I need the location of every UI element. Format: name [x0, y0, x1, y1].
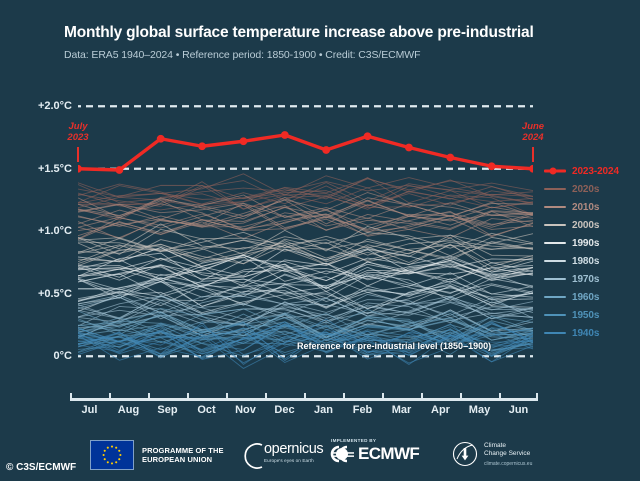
copernicus-c-icon [243, 441, 263, 471]
annotation-july-2023: July 2023 [48, 121, 108, 143]
x-axis-tick [148, 393, 150, 398]
x-axis-label-Jul: Jul [82, 404, 98, 416]
y-axis-label-+1.0°C: +1.0°C [38, 225, 72, 237]
legend-marker-icon [550, 168, 557, 175]
legend-item-2010s[interactable]: 2010s [544, 198, 638, 216]
legend-swatch-1990s [544, 236, 566, 250]
x-axis-label-Mar: Mar [392, 404, 412, 416]
series-line-2023-2024 [78, 135, 533, 170]
decade-line-2000s [78, 224, 533, 249]
eu-stars-icon [91, 441, 133, 469]
copernicus-wordmark: opernicus [264, 441, 323, 457]
x-axis-tick [265, 393, 267, 398]
x-axis-label-Jan: Jan [314, 404, 333, 416]
annotation-june-2024: June 2024 [503, 121, 563, 143]
legend-swatch-1940s [544, 326, 566, 340]
data-point-May [488, 162, 496, 170]
legend-line-icon [544, 206, 566, 208]
x-axis-tick [421, 393, 423, 398]
legend-line-icon [544, 224, 566, 226]
x-axis-tick [304, 393, 306, 398]
eu-star [119, 454, 121, 456]
data-point-Mar [405, 144, 413, 152]
x-axis-tick [70, 393, 72, 398]
c3s-circle-icon [452, 440, 478, 468]
eu-star [107, 461, 109, 463]
annotation-june-2024-line1: June [522, 121, 544, 132]
eu-programme-text: PROGRAMME OF THE EUROPEAN UNION [142, 446, 224, 465]
footer: © C3S/ECMWF PROGRAMME OF THE EUROPEAN UN… [0, 432, 640, 481]
x-axis-label-Aug: Aug [118, 404, 139, 416]
data-point-Apr [446, 154, 454, 162]
legend-label-1990s: 1990s [572, 238, 599, 249]
x-axis-label-Nov: Nov [235, 404, 256, 416]
x-axis-tick [226, 393, 228, 398]
x-axis-tick [382, 393, 384, 398]
c3s-url: climate.copernicus.eu [484, 461, 532, 467]
legend-swatch-1970s [544, 272, 566, 286]
legend-line-icon [544, 314, 566, 316]
eu-star [104, 450, 106, 452]
data-point-Nov [240, 137, 248, 145]
legend-item-1970s[interactable]: 1970s [544, 270, 638, 288]
legend-line-icon [544, 296, 566, 298]
annotation-june-2024-line2: 2024 [522, 132, 543, 143]
x-axis-bar [70, 398, 538, 401]
legend-label-1980s: 1980s [572, 256, 599, 267]
legend-item-1980s[interactable]: 1980s [544, 252, 638, 270]
legend-label-1960s: 1960s [572, 292, 599, 303]
eu-flag-icon [90, 440, 134, 470]
ecmwf-wordmark: ECMWF [358, 444, 419, 464]
eu-star [103, 454, 105, 456]
eu-star [115, 447, 117, 449]
data-point-Dec [281, 131, 289, 139]
y-axis-label-+1.5°C: +1.5°C [38, 163, 72, 175]
legend: 2023-20242020s2010s2000s1990s1980s1970s1… [544, 162, 638, 342]
annotation-june-2024-stem [532, 147, 534, 162]
data-point-Sep [157, 135, 165, 143]
x-axis-label-Jun: Jun [509, 404, 529, 416]
y-axis-label-+2.0°C: +2.0°C [38, 100, 72, 112]
x-axis-label-Oct: Oct [197, 404, 215, 416]
x-axis-tick [536, 393, 538, 398]
legend-item-2000s[interactable]: 2000s [544, 216, 638, 234]
eu-star [111, 446, 113, 448]
data-point-Feb [364, 132, 372, 140]
x-axis-label-Apr: Apr [431, 404, 450, 416]
eu-star [118, 450, 120, 452]
x-axis-tick [187, 393, 189, 398]
c3s-line2: Change Service [484, 450, 532, 458]
eu-star [115, 461, 117, 463]
x-axis-tick [460, 393, 462, 398]
legend-swatch-2020s [544, 182, 566, 196]
legend-line-icon [544, 278, 566, 280]
legend-line-icon [544, 242, 566, 244]
legend-line-icon [544, 332, 566, 334]
eu-star [107, 447, 109, 449]
copyright-label: © C3S/ECMWF [6, 462, 76, 473]
chart-subtitle: Data: ERA5 1940–2024 • Reference period:… [64, 49, 624, 61]
legend-item-1990s[interactable]: 1990s [544, 234, 638, 252]
eu-star [118, 458, 120, 460]
annotation-july-2023-line2: 2023 [67, 132, 88, 143]
legend-item-1960s[interactable]: 1960s [544, 288, 638, 306]
annotation-july-2023-line1: July [68, 121, 87, 132]
primary-series-markers [78, 131, 533, 174]
legend-swatch-2023-2024 [544, 164, 566, 178]
x-axis-tick [109, 393, 111, 398]
legend-label-2010s: 2010s [572, 202, 599, 213]
eu-star [104, 458, 106, 460]
legend-swatch-2010s [544, 200, 566, 214]
decade-series-lines [78, 174, 533, 369]
ecmwf-implemented-by-label: IMPLEMENTED BY [331, 438, 419, 443]
y-axis-label-0°C: 0°C [54, 350, 72, 362]
x-axis-labels: JulAugSepOctNovDecJanFebMarAprMayJun [70, 404, 538, 422]
x-axis-tick [499, 393, 501, 398]
legend-swatch-1950s [544, 308, 566, 322]
european-union-logo: PROGRAMME OF THE EUROPEAN UNION [90, 440, 224, 470]
y-axis-label-+0.5°C: +0.5°C [38, 288, 72, 300]
data-point-Oct [198, 142, 206, 150]
primary-series-line [78, 135, 533, 170]
legend-item-1950s[interactable]: 1950s [544, 306, 638, 324]
climate-chart-page: Monthly global surface temperature incre… [0, 0, 640, 481]
x-axis-label-Feb: Feb [353, 404, 373, 416]
eu-programme-line1: PROGRAMME OF THE [142, 446, 224, 456]
legend-label-1940s: 1940s [572, 328, 599, 339]
ecmwf-mark-icon [330, 445, 356, 463]
x-axis-label-Dec: Dec [274, 404, 294, 416]
legend-label-1970s: 1970s [572, 274, 599, 285]
data-point-Jul [78, 165, 82, 173]
copernicus-tagline: Europe's eyes on Earth [264, 458, 323, 463]
ecmwf-logo: IMPLEMENTED BY ECMWF [330, 438, 419, 464]
chart-header: Monthly global surface temperature incre… [64, 24, 624, 61]
legend-item-2020s[interactable]: 2020s [544, 180, 638, 198]
legend-label-2020s: 2020s [572, 184, 599, 195]
eu-programme-line2: EUROPEAN UNION [142, 455, 224, 465]
legend-swatch-1960s [544, 290, 566, 304]
data-point-Jun [529, 165, 533, 173]
legend-line-icon [544, 188, 566, 190]
legend-item-2023-2024[interactable]: 2023-2024 [544, 162, 638, 180]
c3s-line1: Climate [484, 442, 532, 450]
legend-swatch-1980s [544, 254, 566, 268]
plot-svg [78, 100, 533, 375]
reference-level-note: Reference for pre-industrial level (1850… [297, 341, 491, 351]
data-point-Jan [322, 146, 330, 154]
legend-label-2000s: 2000s [572, 220, 599, 231]
legend-swatch-2000s [544, 218, 566, 232]
plot-area [78, 100, 533, 375]
eu-star [111, 462, 113, 464]
legend-label-1950s: 1950s [572, 310, 599, 321]
x-axis-tick [343, 393, 345, 398]
data-point-Aug [115, 166, 123, 174]
legend-label-2023-2024: 2023-2024 [572, 166, 619, 177]
annotation-july-2023-stem [77, 147, 79, 162]
page-title: Monthly global surface temperature incre… [64, 24, 624, 42]
legend-item-1940s[interactable]: 1940s [544, 324, 638, 342]
copernicus-logo: opernicus Europe's eyes on Earth [243, 441, 323, 471]
x-axis-label-Sep: Sep [157, 404, 177, 416]
x-axis-label-May: May [469, 404, 490, 416]
climate-change-service-logo: Climate Change Service climate.copernicu… [452, 440, 532, 468]
legend-line-icon [544, 260, 566, 262]
